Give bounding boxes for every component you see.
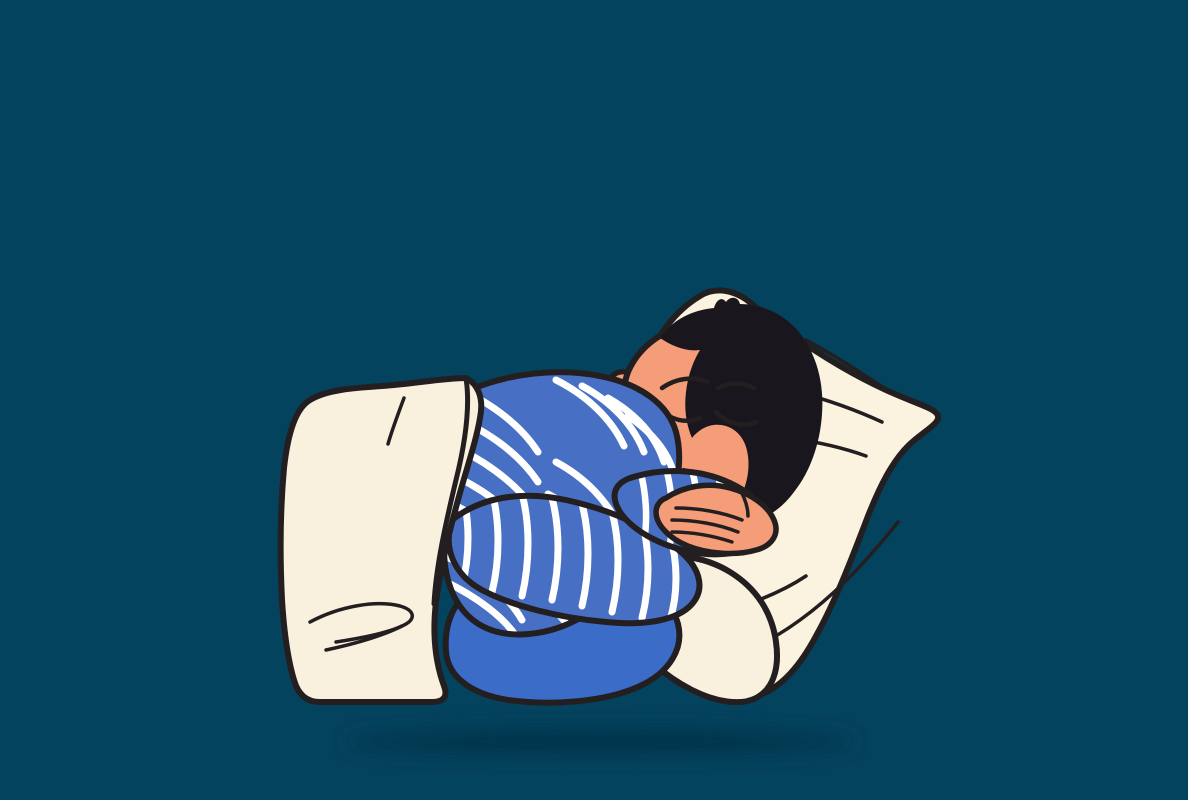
sleeping-boy-svg — [0, 0, 1188, 800]
poster-canvas: Earn Passive Income While You Sleep — [0, 0, 1188, 800]
floor-shadow — [342, 730, 858, 754]
sleeping-boy-illustration — [0, 0, 1188, 800]
